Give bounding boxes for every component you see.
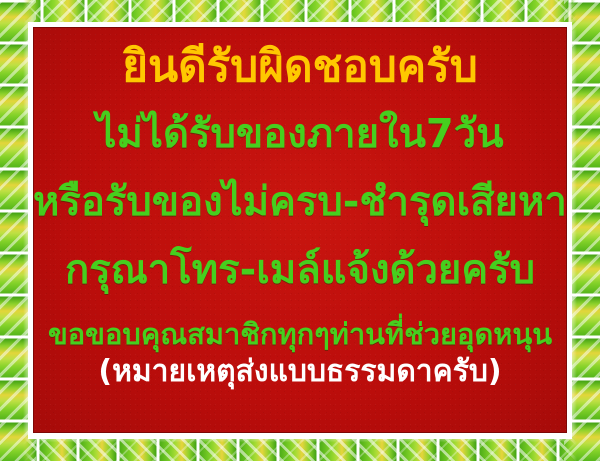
policy-line-incomplete-damaged: หรือรับของไม่ครบ-ชำรุดเสียหาย [33, 182, 567, 222]
headline-text: ยินดีรับผิดชอบครับ [33, 45, 567, 89]
policy-line-delivery-days: ไม่ได้รับของภายใน7วัน [33, 114, 567, 154]
poster-image: ยินดีรับผิดชอบครับ ไม่ได้รับของภายใน7วัน… [0, 0, 600, 461]
policy-line-contact-instruction: กรุณาโทร-เมล์แจ้งด้วยครับ [33, 250, 567, 290]
red-message-panel: ยินดีรับผิดชอบครับ ไม่ได้รับของภายใน7วัน… [33, 27, 567, 433]
shipping-note-text: (หมายเหตุส่งแบบธรรมดาครับ) [33, 357, 567, 387]
thank-you-text: ขอขอบคุณสมาชิกทุกๆท่านที่ช่วยอุดหนุน [33, 320, 567, 349]
